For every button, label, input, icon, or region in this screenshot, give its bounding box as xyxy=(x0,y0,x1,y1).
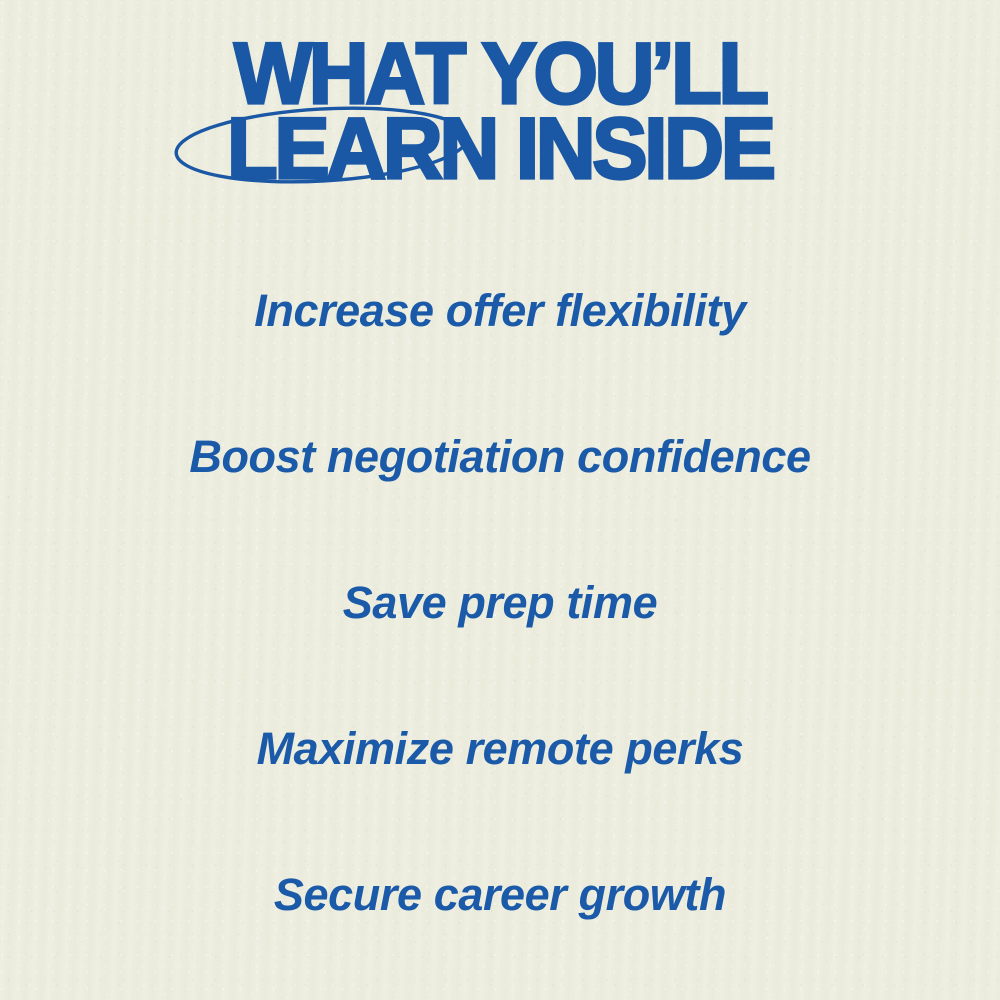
headline-line-2: LEARN INSIDE xyxy=(20,115,980,184)
poster-canvas: WHAT YOU’LL LEARN INSIDE Increase offer … xyxy=(0,0,1000,1000)
benefit-label: Secure career growth xyxy=(274,871,726,918)
list-item: Save prep time xyxy=(0,530,1000,676)
list-item: Boost negotiation confidence xyxy=(0,384,1000,530)
benefits-list: Increase offer flexibility Boost negotia… xyxy=(0,238,1000,968)
benefit-label: Increase offer flexibility xyxy=(254,287,745,334)
benefit-label: Maximize remote perks xyxy=(257,725,744,772)
headline-line-1: WHAT YOU’LL xyxy=(20,40,980,109)
headline: WHAT YOU’LL LEARN INSIDE xyxy=(0,40,1000,184)
benefit-label: Boost negotiation confidence xyxy=(189,433,810,480)
list-item: Increase offer flexibility xyxy=(0,238,1000,384)
benefit-label: Save prep time xyxy=(343,579,658,626)
list-item: Secure career growth xyxy=(0,822,1000,968)
list-item: Maximize remote perks xyxy=(0,676,1000,822)
